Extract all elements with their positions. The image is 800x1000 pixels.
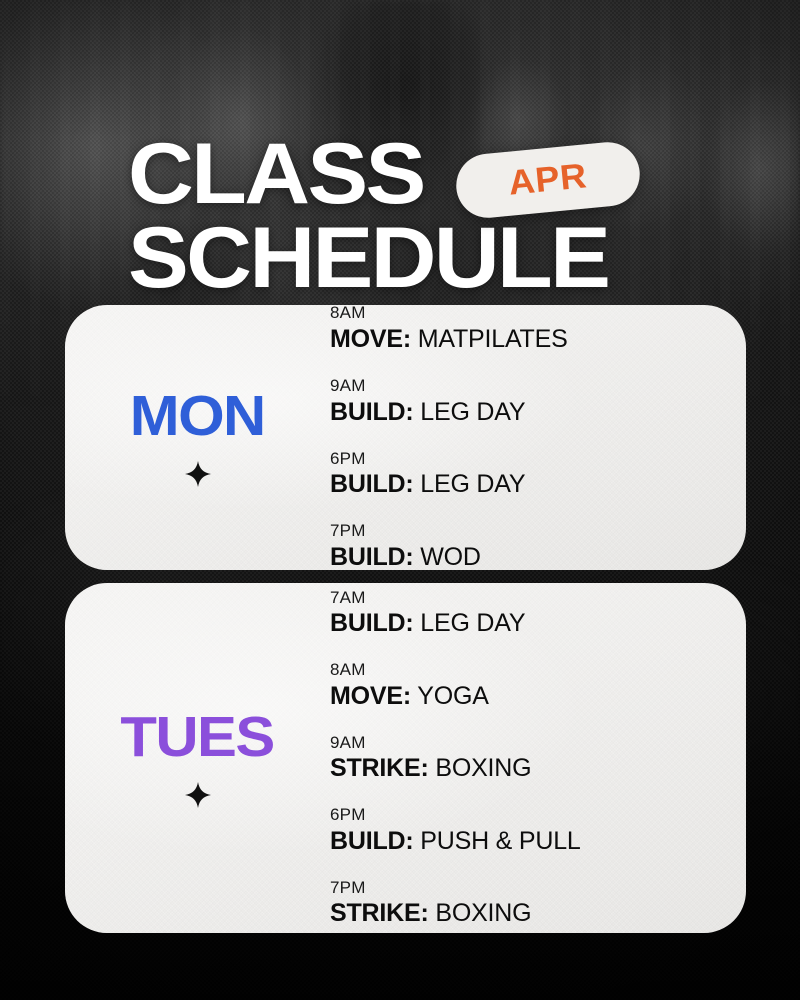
slots-column-tues: 7AM BUILD: LEG DAY 8AM MOVE: YOGA 9AM ST… (330, 583, 746, 933)
slot-class: BUILD: WOD (330, 542, 746, 570)
slot-category: STRIKE: (330, 899, 429, 927)
slots-column-mon: 8AM MOVE: MATPILATES 9AM BUILD: LEG DAY … (330, 305, 746, 570)
slot-time: 7PM (330, 878, 746, 898)
sparkle-icon (185, 461, 211, 487)
day-label-mon: MON (130, 388, 265, 445)
slot-category: BUILD: (330, 398, 414, 426)
slot-time: 7PM (330, 521, 746, 541)
slot-time: 7AM (330, 588, 746, 608)
slot-class-name: PUSH & PULL (420, 827, 580, 855)
slot-time: 6PM (330, 449, 746, 469)
slot-class-name: BOXING (435, 754, 531, 782)
day-label-tues: TUES (121, 709, 274, 766)
schedule-slot: 6PM BUILD: PUSH & PULL (330, 805, 746, 856)
slot-category: MOVE: (330, 325, 411, 353)
slot-category: STRIKE: (330, 754, 429, 782)
slot-class-name: LEG DAY (420, 398, 525, 426)
schedule-slot: 8AM MOVE: YOGA (330, 660, 746, 711)
day-column-tues: TUES (65, 583, 330, 933)
slot-time: 8AM (330, 305, 746, 323)
slot-time: 8AM (330, 660, 746, 680)
month-badge-label: APR (507, 156, 589, 203)
slot-category: MOVE: (330, 682, 411, 710)
slot-class: BUILD: LEG DAY (330, 608, 746, 638)
slot-class: BUILD: PUSH & PULL (330, 826, 746, 856)
title-line-class: CLASS (128, 134, 764, 216)
page-title: CLASS SCHEDULE (128, 134, 728, 299)
class-schedule-poster: CLASS SCHEDULE APR MON 8AM MOVE: MATPILA… (0, 0, 800, 1000)
schedule-slot: 7PM STRIKE: BOXING (330, 878, 746, 929)
slot-time: 9AM (330, 733, 746, 753)
slot-class: BUILD: LEG DAY (330, 469, 746, 499)
slot-class: BUILD: LEG DAY (330, 397, 746, 427)
slot-category: BUILD: (330, 470, 414, 498)
slot-class-name: LEG DAY (420, 609, 525, 637)
schedule-slot: 7AM BUILD: LEG DAY (330, 588, 746, 639)
title-line-schedule: SCHEDULE (128, 218, 764, 300)
slot-time: 9AM (330, 376, 746, 396)
slot-class: MOVE: MATPILATES (330, 324, 746, 354)
slot-time: 6PM (330, 805, 746, 825)
slot-class-name: YOGA (417, 682, 488, 710)
day-card-mon: MON 8AM MOVE: MATPILATES 9AM BUILD: LEG … (65, 305, 746, 570)
slot-category: BUILD: (330, 827, 414, 855)
sparkle-icon (185, 782, 211, 808)
schedule-slot: 6PM BUILD: LEG DAY (330, 449, 746, 500)
slot-class-name: MATPILATES (418, 325, 568, 353)
schedule-slot: 7PM BUILD: WOD (330, 521, 746, 570)
slot-category: BUILD: (330, 609, 414, 637)
slot-class: STRIKE: BOXING (330, 753, 746, 783)
slot-class: STRIKE: BOXING (330, 898, 746, 928)
slot-class-name: LEG DAY (420, 470, 525, 498)
schedule-slot: 9AM BUILD: LEG DAY (330, 376, 746, 427)
slot-class-name: BOXING (435, 899, 531, 927)
schedule-slot: 9AM STRIKE: BOXING (330, 733, 746, 784)
slot-category: BUILD: (330, 543, 414, 570)
day-column-mon: MON (65, 305, 330, 570)
slot-class-name: WOD (420, 543, 481, 570)
schedule-slot: 8AM MOVE: MATPILATES (330, 305, 746, 354)
slot-class: MOVE: YOGA (330, 681, 746, 711)
day-card-tues: TUES 7AM BUILD: LEG DAY 8AM MOVE: YOGA 9… (65, 583, 746, 933)
